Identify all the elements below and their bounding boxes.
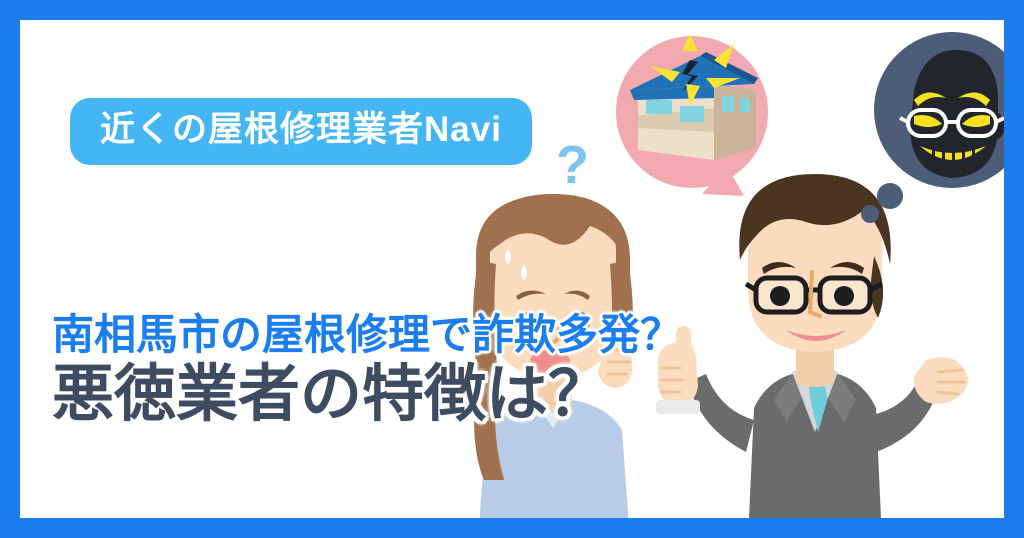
headline-line-2: 悪徳業者の特徴は？ [52, 360, 682, 429]
thought-bubble-dot-large [877, 183, 903, 209]
headline-block: 南相馬市の屋根修理で詐欺多発？ 悪徳業者の特徴は？ [52, 310, 682, 429]
man-eye-right [834, 286, 854, 306]
thumbnail-canvas: 近くの屋根修理業者Navi ? 南相馬市の屋根修理で詐欺多発？ 悪徳業者の特徴は… [20, 20, 1004, 518]
thumbnail-stage: 近くの屋根修理業者Navi ? 南相馬市の屋根修理で詐欺多発？ 悪徳業者の特徴は… [0, 0, 1024, 538]
thought-bubble-dot-small [861, 205, 879, 223]
thought-bubble-villain [852, 28, 1004, 228]
man-eye-left [770, 286, 790, 306]
speech-bubble-damaged-house [594, 28, 794, 228]
headline-line-1: 南相馬市の屋根修理で詐欺多発？ [52, 310, 682, 360]
man-open-hand [914, 357, 968, 404]
site-name-badge[interactable]: 近くの屋根修理業者Navi [70, 98, 532, 165]
question-mark-decoration: ? [556, 134, 589, 196]
